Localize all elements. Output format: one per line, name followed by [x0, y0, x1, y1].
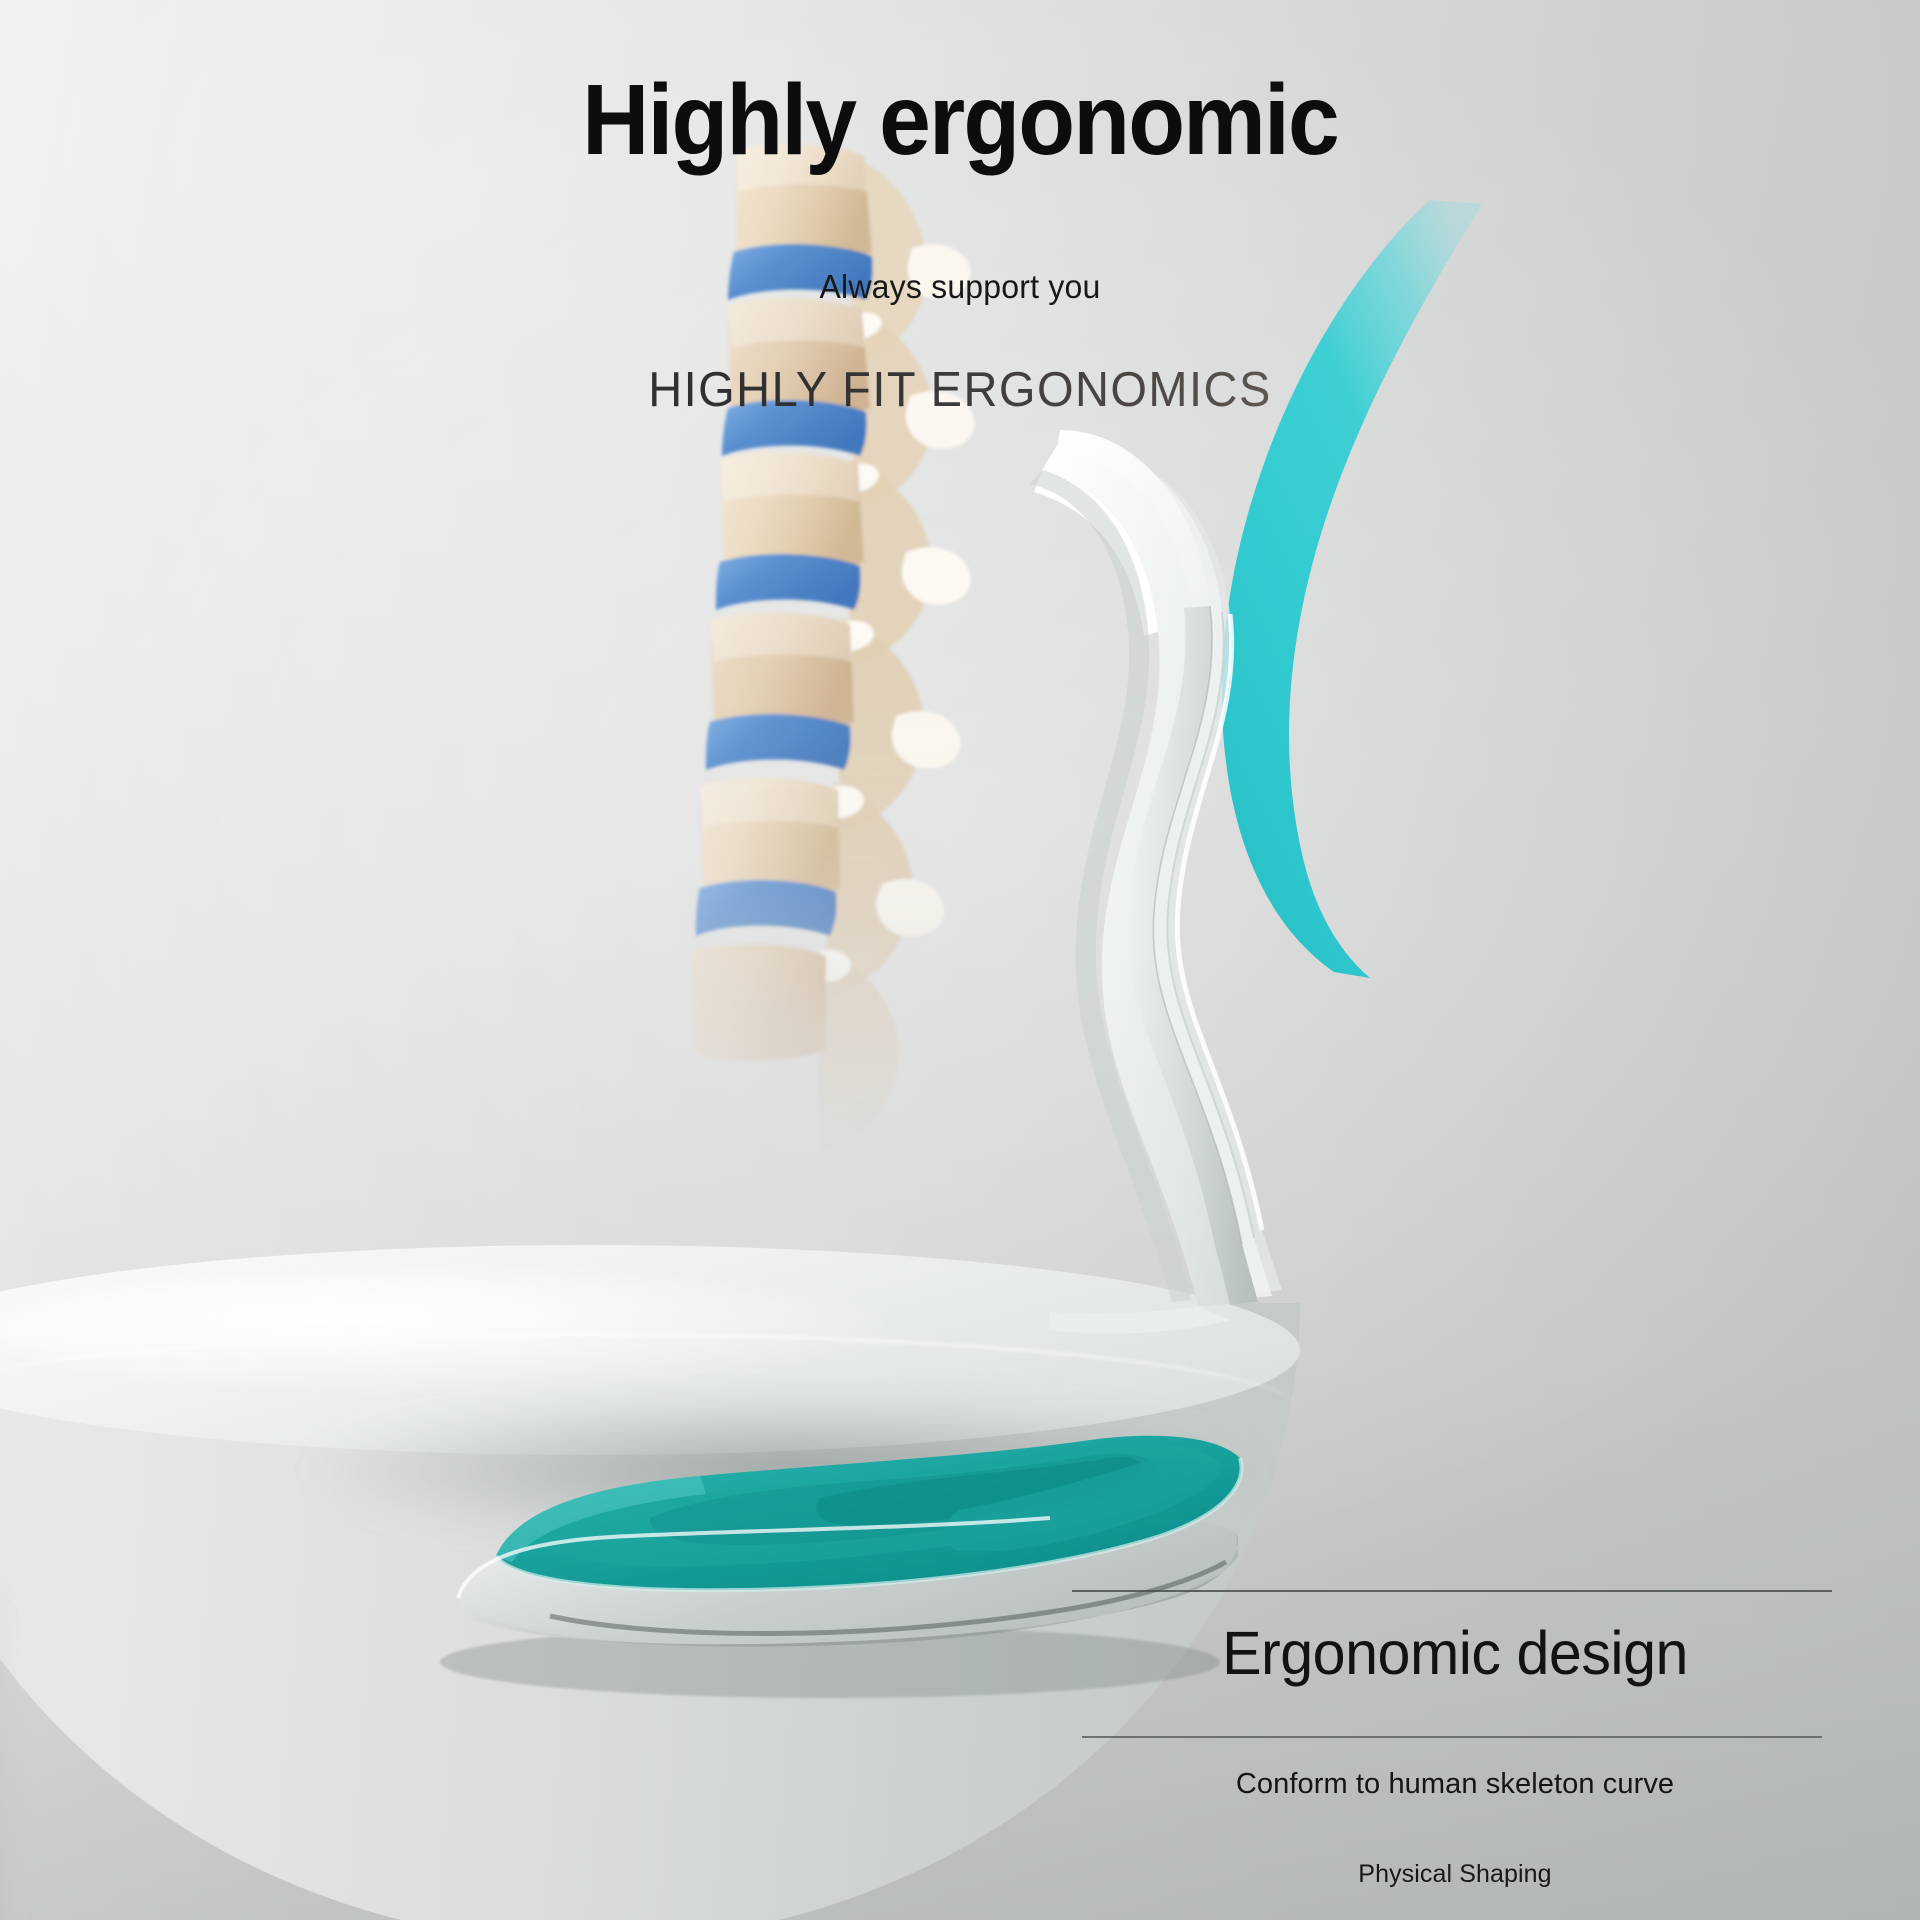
footer-subtitle-secondary: Physical Shaping — [1060, 1860, 1850, 1889]
product-marketing-poster: Highly ergonomic Always support you HIGH… — [0, 0, 1920, 1920]
footer-heading: Ergonomic design — [1072, 1618, 1838, 1688]
page-title: Highly ergonomic — [67, 70, 1853, 170]
white-s-curve-product — [930, 400, 1370, 1370]
divider-middle — [1082, 1736, 1822, 1738]
subtitle: Always support you — [29, 268, 1891, 306]
tagline-ergonomics: HIGHLY FIT ERGONOMICS — [38, 362, 1881, 418]
divider-top — [1072, 1590, 1832, 1592]
footer-subtitle-primary: Conform to human skeleton curve — [1060, 1768, 1850, 1801]
